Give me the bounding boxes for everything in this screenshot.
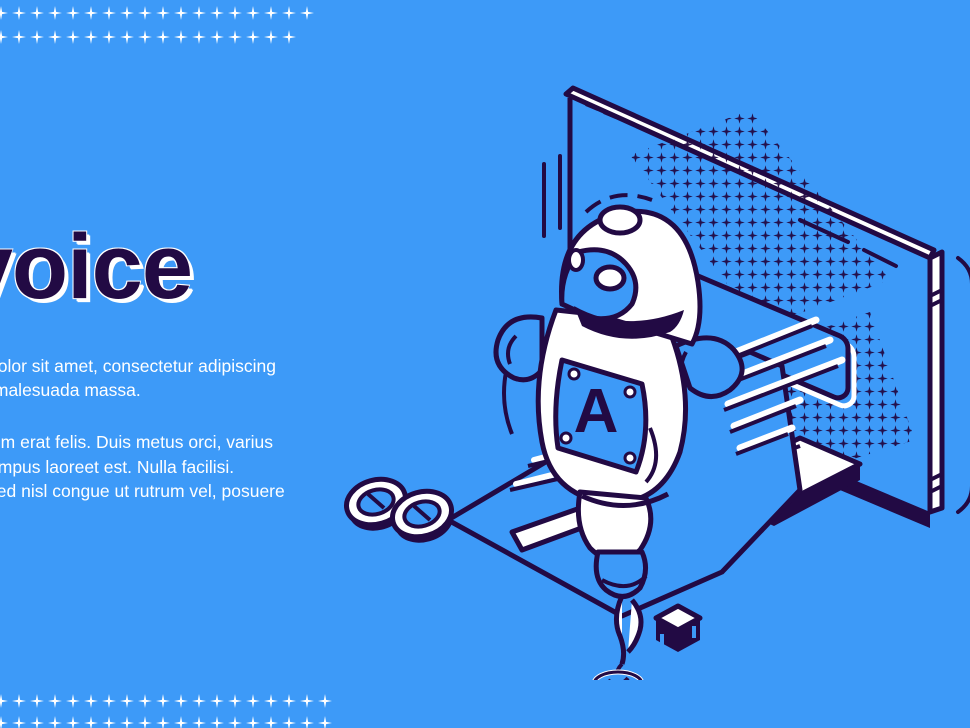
sparkle-dot (246, 694, 260, 708)
sparkle-dot (48, 694, 62, 708)
sparkle-dot (12, 716, 26, 728)
sparkle-dot (48, 30, 62, 44)
sparkle-dot (120, 30, 134, 44)
sparkle-dot (102, 30, 116, 44)
sparkle-dot (66, 716, 80, 728)
sparkle-dot (318, 716, 332, 728)
sparkle-dot (246, 716, 260, 728)
sparkle-dot (192, 30, 206, 44)
text-column: Invoice Lorem ipsum dolor sit amet, cons… (0, 222, 312, 527)
sparkle-dot (84, 716, 98, 728)
sparkle-dot (210, 694, 224, 708)
sparkle-dot (300, 716, 314, 728)
sparkle-dot (264, 694, 278, 708)
sparkle-dot (102, 694, 116, 708)
sparkle-dot (48, 6, 62, 20)
sparkle-dot (174, 30, 188, 44)
sparkle-dot (30, 6, 44, 20)
sparkle-dot (120, 716, 134, 728)
page-title: Invoice (0, 222, 312, 312)
robot-left-arm (496, 317, 542, 380)
sparkle-dot (282, 716, 296, 728)
sparkle-dot (264, 30, 278, 44)
sparkle-dot (282, 694, 296, 708)
sparkle-dot (210, 716, 224, 728)
sparkle-dot (138, 716, 152, 728)
sparkle-dot (264, 716, 278, 728)
sparkle-dot (30, 30, 44, 44)
sparkle-dot (156, 694, 170, 708)
sparkle-dot (12, 694, 26, 708)
sparkle-dot (0, 716, 8, 728)
small-box (656, 606, 700, 652)
sparkle-dot (84, 6, 98, 20)
sparkle-dot (138, 30, 152, 44)
sparkle-dot (84, 30, 98, 44)
sparkle-dot (174, 716, 188, 728)
sparkle-dot (84, 694, 98, 708)
sparkle-dot (174, 694, 188, 708)
sparkle-dot (300, 6, 314, 20)
sparkle-dot (228, 716, 242, 728)
sparkle-dot (156, 716, 170, 728)
sparkle-dot-field-bottom (0, 672, 336, 728)
sparkle-dot (0, 694, 8, 708)
sparkle-dot (66, 6, 80, 20)
sparkle-dot (12, 30, 26, 44)
page-root: A (0, 0, 970, 728)
signature-squiggle (594, 596, 642, 680)
sparkle-dot (246, 30, 260, 44)
sparkle-dot (282, 6, 296, 20)
sparkle-dot (228, 694, 242, 708)
sparkle-dot (30, 694, 44, 708)
robot-pen-holder (596, 552, 645, 597)
robot-badge-letter: A (574, 377, 619, 446)
intro-paragraph: Lorem ipsum dolor sit amet, consectetur … (0, 354, 294, 402)
sparkle-dot (210, 30, 224, 44)
sparkle-dot (48, 716, 62, 728)
sparkle-dot (318, 694, 332, 708)
sparkle-dot (192, 6, 206, 20)
robot-eye (596, 267, 624, 289)
sparkle-dot (156, 6, 170, 20)
sparkle-dot (30, 716, 44, 728)
sparkle-dot-field-top (0, 6, 336, 54)
sparkle-dot (156, 30, 170, 44)
sparkle-dot (138, 6, 152, 20)
sparkle-dot (12, 6, 26, 20)
sparkle-dot (66, 30, 80, 44)
sparkle-dot (138, 694, 152, 708)
sparkle-dot (210, 6, 224, 20)
sparkle-dot (228, 30, 242, 44)
sparkle-dot (174, 6, 188, 20)
body-paragraph: Nunc at interdum erat felis. Duis metus … (0, 430, 294, 527)
sparkle-dot (264, 6, 278, 20)
robot-head-button (600, 207, 640, 233)
sparkle-dot (246, 6, 260, 20)
sparkle-dot (192, 716, 206, 728)
sparkle-dot (300, 694, 314, 708)
robot-eye-small (569, 250, 583, 270)
hero-illustration: A (330, 60, 970, 680)
sparkle-dot (120, 694, 134, 708)
sparkle-dot (192, 694, 206, 708)
sparkle-dot (102, 716, 116, 728)
sparkle-dot (102, 6, 116, 20)
stacked-coins (341, 473, 459, 550)
sparkle-dot (66, 694, 80, 708)
sparkle-dot (120, 6, 134, 20)
sparkle-dot (228, 6, 242, 20)
sparkle-dot (282, 30, 296, 44)
sparkle-dot (0, 6, 8, 20)
sparkle-dot (0, 30, 8, 44)
